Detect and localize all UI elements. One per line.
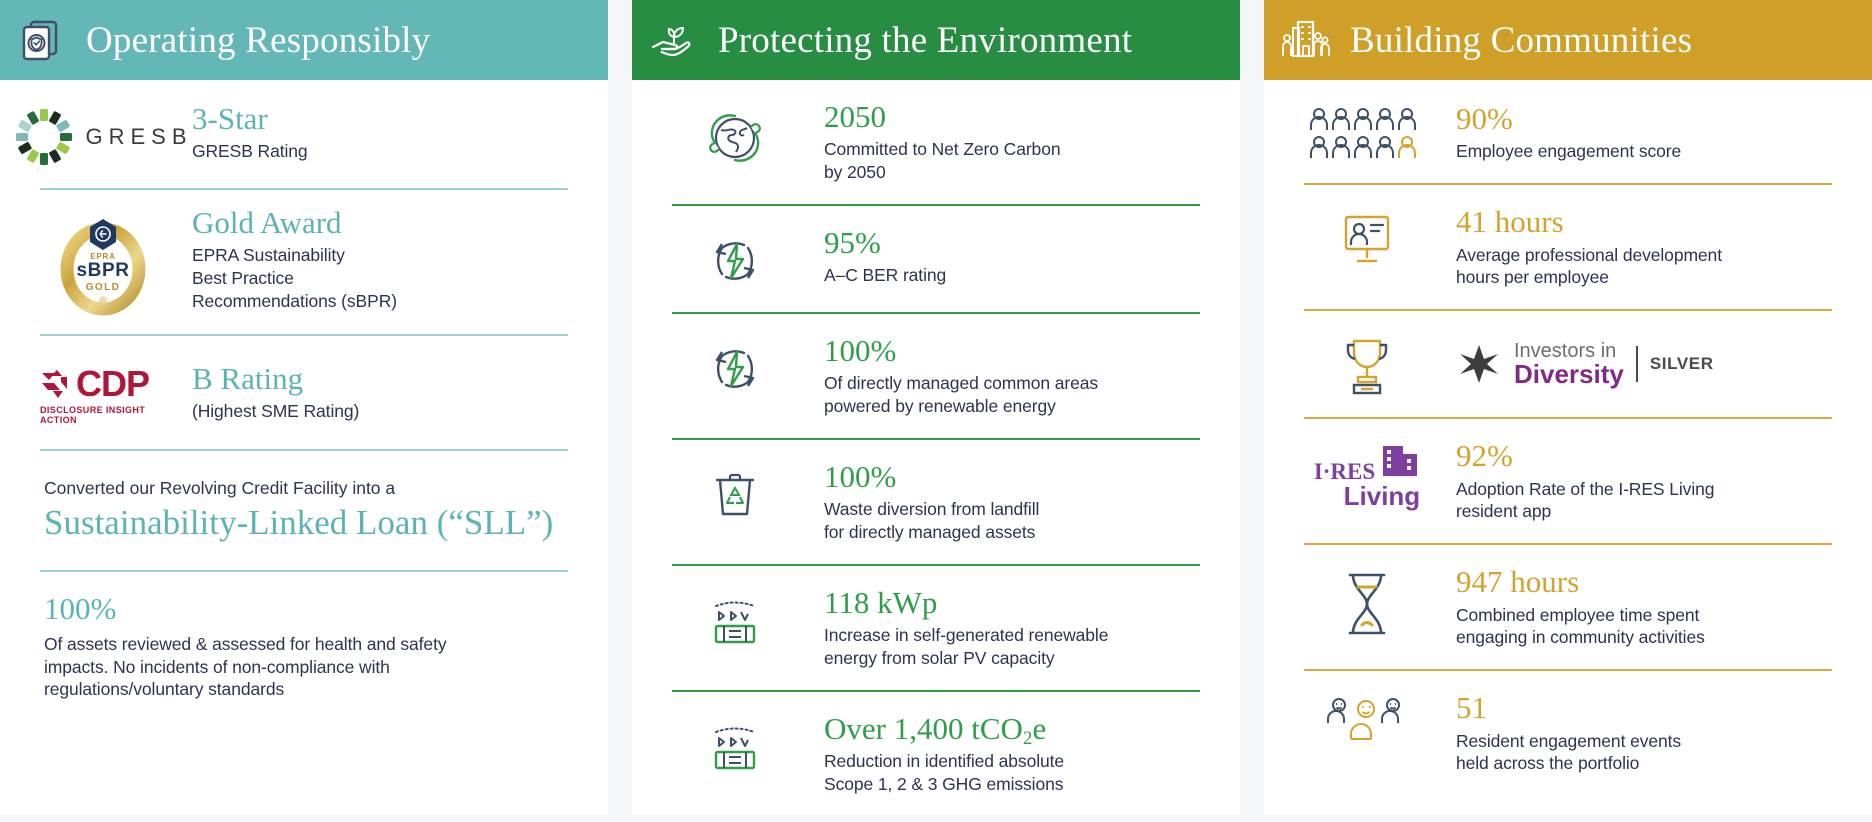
stat-description: Increase in self-generated renewable ene…	[824, 624, 1200, 670]
column-header-building-communities: Building Communities	[1264, 0, 1872, 80]
stat-text: Over 1,400 tCO2e Reduction in identified…	[824, 712, 1200, 796]
svg-text:sBPR: sBPR	[76, 260, 129, 281]
stat-row: 100% Of directly managed common areas po…	[672, 314, 1200, 438]
stat-row: Investors in Diversity SILVER	[1304, 311, 1832, 417]
page-title-protecting-the-environment: Protecting the Environment	[718, 19, 1132, 62]
diversity-star-icon	[1456, 341, 1502, 387]
page-title-building-communities: Building Communities	[1350, 19, 1692, 62]
stat-value: 2050	[824, 100, 1200, 133]
health-safety-description: Of assets reviewed & assessed for health…	[44, 633, 568, 701]
stat-value: 100%	[824, 460, 1200, 493]
stat-value: 95%	[824, 226, 1200, 259]
stat-text: 51 Resident engagement events held acros…	[1456, 691, 1832, 775]
stat-description: Reduction in identified absolute Scope 1…	[824, 750, 1200, 796]
sustainability-linked-loan-block: Converted our Revolving Credit Facility …	[40, 451, 568, 570]
stat-value: 51	[1456, 691, 1832, 724]
stat-text: 100% Waste diversion from landfill for d…	[824, 460, 1200, 544]
column-building-communities: Building Communities	[1264, 0, 1872, 815]
solar-panel-icon	[672, 586, 798, 652]
svg-text:GOLD: GOLD	[86, 282, 121, 293]
stat-description: Of directly managed common areas powered…	[824, 372, 1200, 418]
stat-row: I·RES Living	[1304, 419, 1832, 543]
stat-text: 92% Adoption Rate of the I-RES Living re…	[1456, 439, 1832, 523]
stat-description: Employee engagement score	[1456, 140, 1832, 163]
stat-value: 118 kWp	[824, 586, 1200, 619]
stat-value-main: Over 1,400 tCO	[824, 711, 1023, 746]
sll-headline: Sustainability-Linked Loan (“SLL”)	[44, 502, 568, 544]
stat-text: 2050 Committed to Net Zero Carbon by 205…	[824, 100, 1200, 184]
stat-text: 95% A–C BER rating	[824, 226, 1200, 287]
stat-text: Gold Award EPRA Sustainability Best Prac…	[192, 206, 568, 313]
stat-value: Over 1,400 tCO2e	[824, 712, 1200, 745]
column-body-operating-responsibly: GRESB 3-Star GRESB Rating	[0, 80, 608, 815]
stat-row: 947 hours Combined employee time spent e…	[1304, 545, 1832, 669]
building-with-people-icon	[1278, 13, 1332, 67]
stat-value: 90%	[1456, 102, 1832, 135]
three-people-icon	[1304, 691, 1430, 747]
stat-value: 947 hours	[1456, 565, 1832, 598]
stat-row: CDP DISCLOSURE INSIGHT ACTION B Rating (…	[40, 336, 568, 449]
trophy-icon	[1304, 329, 1430, 399]
cdp-mark-icon	[40, 367, 74, 401]
diversity-label: Diversity	[1514, 361, 1624, 387]
stat-description: Adoption Rate of the I-RES Living reside…	[1456, 478, 1832, 524]
stat-description: GRESB Rating	[192, 140, 568, 163]
health-safety-value: 100%	[44, 590, 568, 627]
sll-lead-text: Converted our Revolving Credit Facility …	[44, 477, 568, 500]
stat-row: 95% A–C BER rating	[672, 206, 1200, 312]
stat-row: Over 1,400 tCO2e Reduction in identified…	[672, 692, 1200, 815]
logo-separator	[1636, 346, 1638, 382]
cdp-tagline: DISCLOSURE INSIGHT ACTION	[40, 405, 166, 425]
energy-cycle-icon	[672, 226, 798, 292]
presentation-person-icon	[1304, 205, 1430, 271]
stat-description: Combined employee time spent engaging in…	[1456, 604, 1832, 650]
stat-row: GRESB 3-Star GRESB Rating	[40, 80, 568, 188]
living-wordmark: Living	[1344, 483, 1421, 509]
hand-holding-plant-icon	[646, 13, 700, 67]
health-safety-block: 100% Of assets reviewed & assessed for h…	[40, 572, 568, 701]
gresb-logo: GRESB	[40, 102, 166, 168]
column-body-building-communities: 90% Employee engagement score	[1264, 80, 1872, 815]
stat-row: 2050 Committed to Net Zero Carbon by 205…	[672, 80, 1200, 204]
gresb-wordmark: GRESB	[85, 124, 192, 150]
cdp-wordmark: CDP	[76, 366, 149, 402]
stat-description: A–C BER rating	[824, 264, 1200, 287]
recycling-bin-icon	[672, 460, 798, 524]
stat-value: B Rating	[192, 362, 568, 395]
energy-cycle-icon	[672, 334, 798, 400]
stat-row: 90% Employee engagement score	[1304, 80, 1832, 183]
i-res-building-mark-icon	[1380, 443, 1420, 483]
page-title-operating-responsibly: Operating Responsibly	[86, 19, 430, 62]
solar-panel-icon	[672, 712, 798, 778]
stat-row: 100% Waste diversion from landfill for d…	[672, 440, 1200, 564]
stat-description: Waste diversion from landfill for direct…	[824, 498, 1200, 544]
stat-text: 3-Star GRESB Rating	[192, 102, 568, 163]
stat-value: Gold Award	[192, 206, 568, 239]
stat-text: 947 hours Combined employee time spent e…	[1456, 565, 1832, 649]
stat-text: 41 hours Average professional developmen…	[1456, 205, 1832, 289]
stat-description: (Highest SME Rating)	[192, 400, 568, 423]
stat-text: 100% Of directly managed common areas po…	[824, 334, 1200, 418]
cdp-logo: CDP DISCLOSURE INSIGHT ACTION	[40, 362, 166, 425]
stat-row: 51 Resident engagement events held acros…	[1304, 671, 1832, 795]
column-body-protecting-the-environment: 2050 Committed to Net Zero Carbon by 205…	[632, 80, 1240, 815]
stat-row: 41 hours Average professional developmen…	[1304, 185, 1832, 309]
stat-description: EPRA Sustainability Best Practice Recomm…	[192, 244, 568, 312]
hourglass-icon	[1304, 565, 1430, 639]
stat-value: 100%	[824, 334, 1200, 367]
investors-in-label: Investors in	[1514, 341, 1624, 361]
globe-recycle-icon	[672, 100, 798, 172]
stat-value: 92%	[1456, 439, 1832, 472]
stat-value-suffix: e	[1033, 711, 1047, 746]
stat-description: Average professional development hours p…	[1456, 244, 1832, 290]
stat-text: 118 kWp Increase in self-generated renew…	[824, 586, 1200, 670]
stat-row: 118 kWp Increase in self-generated renew…	[672, 566, 1200, 690]
column-operating-responsibly: Operating Responsibly	[0, 0, 608, 815]
stat-text: 90% Employee engagement score	[1456, 102, 1832, 163]
esg-highlights-board: Operating Responsibly	[0, 0, 1872, 822]
i-res-wordmark: I·RES	[1314, 460, 1375, 483]
stat-description: Resident engagement events held across t…	[1456, 730, 1832, 776]
investors-in-diversity-silver-logo: Investors in Diversity SILVER	[1456, 341, 1832, 387]
documents-shield-icon	[14, 13, 68, 67]
silver-tier-label: SILVER	[1650, 354, 1714, 374]
stat-value: 41 hours	[1456, 205, 1832, 238]
gresb-wheel-icon	[13, 106, 75, 168]
i-res-living-logo: I·RES Living	[1304, 439, 1430, 509]
people-grid-icon	[1304, 102, 1430, 162]
column-header-operating-responsibly: Operating Responsibly	[0, 0, 608, 80]
stat-value: 3-Star	[192, 102, 568, 135]
epra-sbpr-gold-medal-logo: EPRA sBPR GOLD	[40, 206, 166, 320]
stat-text: B Rating (Highest SME Rating)	[192, 362, 568, 423]
stat-description: Committed to Net Zero Carbon by 2050	[824, 138, 1200, 184]
column-header-protecting-the-environment: Protecting the Environment	[632, 0, 1240, 80]
stat-value-subscript: 2	[1023, 728, 1033, 749]
column-protecting-the-environment: Protecting the Environment	[632, 0, 1240, 815]
stat-row: EPRA sBPR GOLD Gold Award EPRA Sustainab…	[40, 190, 568, 334]
